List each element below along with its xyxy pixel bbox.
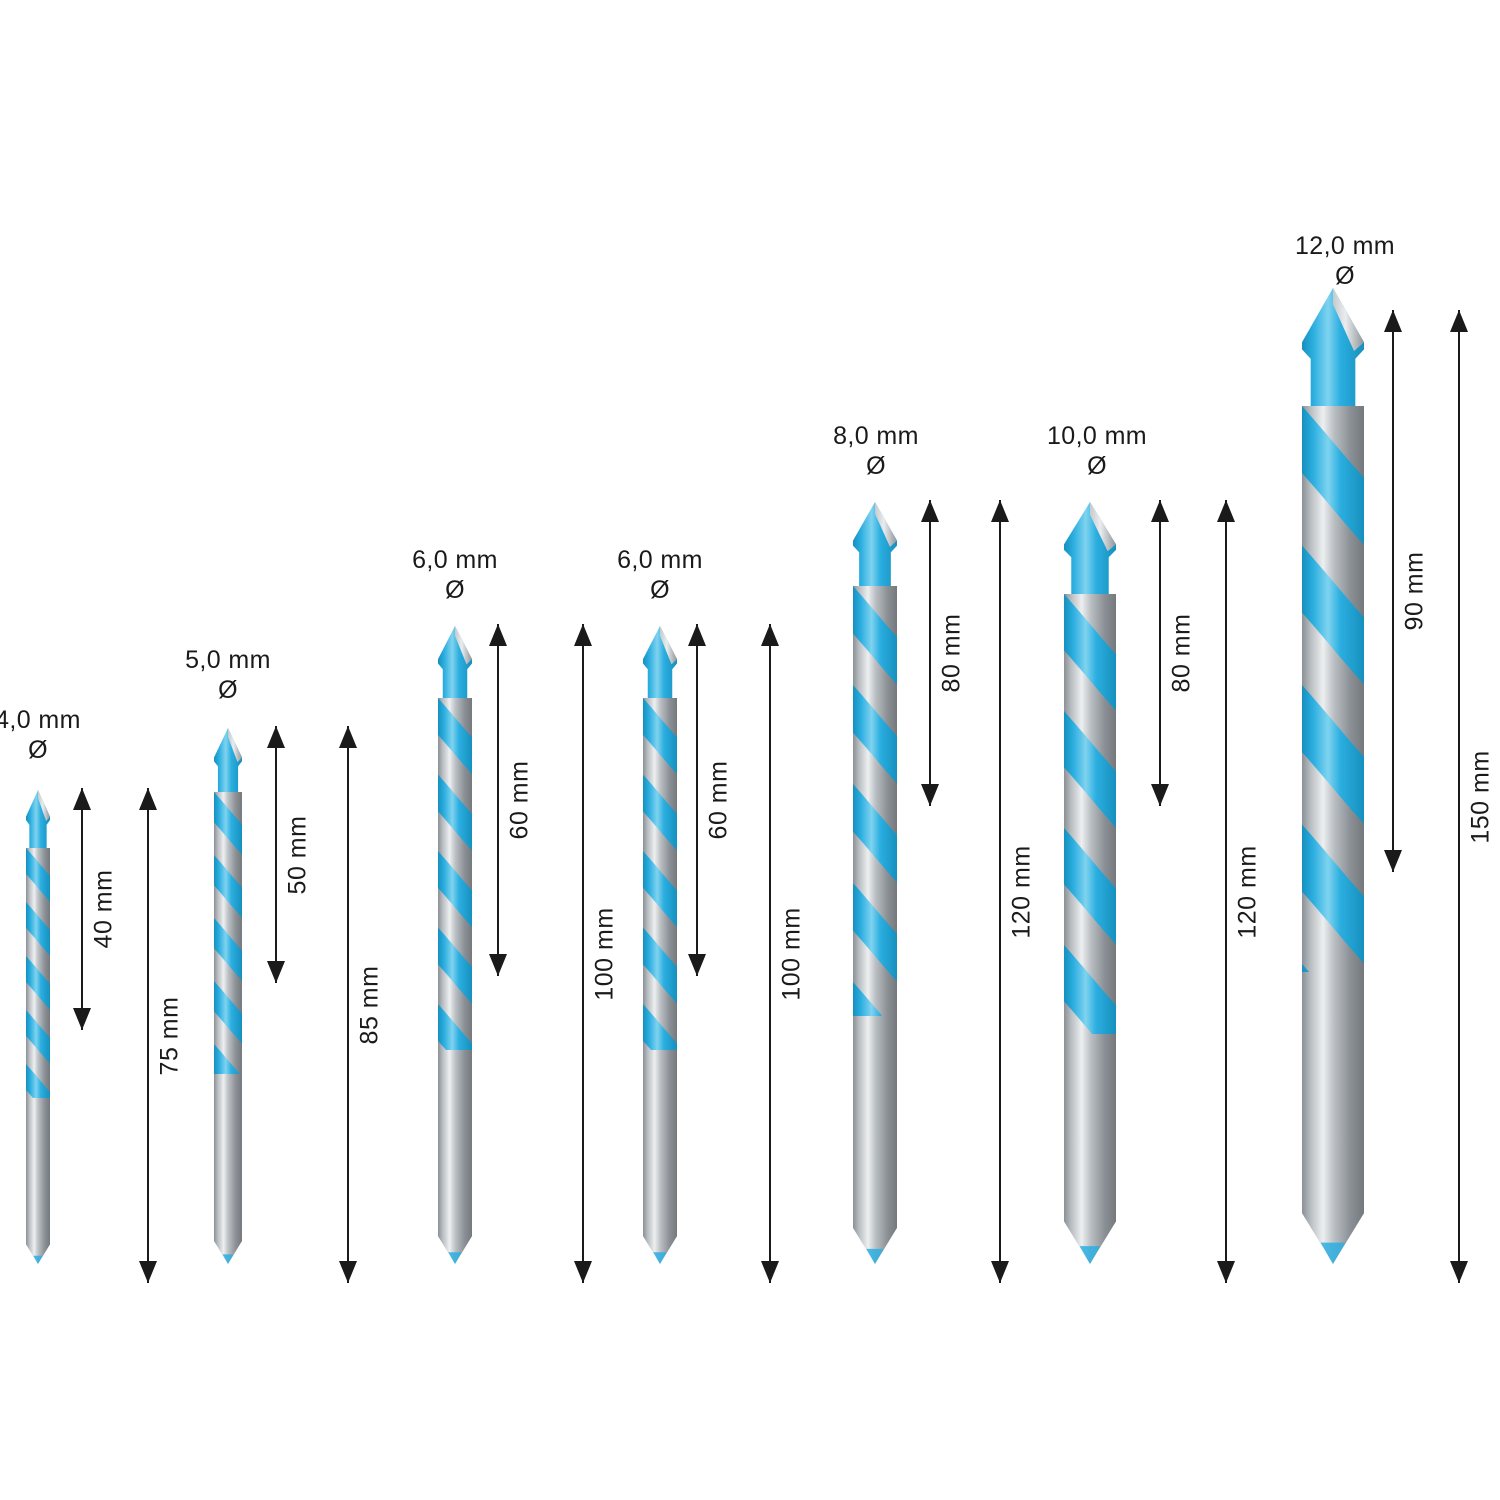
product-dimension-diagram: 40 mm75 mm4,0 mmØ50 mm85 mm5,0 mmØ60 mm1… — [0, 0, 1500, 1500]
dimension-bit-12mm-0: 90 mm — [1373, 310, 1413, 872]
arrowhead-down-icon — [921, 784, 939, 806]
dimension-value: 100 mm — [591, 907, 620, 1000]
diameter-value: 5,0 mm — [118, 646, 338, 676]
dimension-line — [347, 726, 349, 1283]
arrowhead-down-icon — [1384, 850, 1402, 872]
arrowhead-up-icon — [574, 624, 592, 646]
dimension-value: 60 mm — [506, 761, 535, 840]
diameter-value: 4,0 mm — [0, 706, 148, 736]
arrowhead-up-icon — [139, 788, 157, 810]
arrowhead-up-icon — [761, 624, 779, 646]
diameter-symbol-icon: Ø — [766, 452, 986, 482]
diameter-symbol-icon: Ø — [550, 576, 770, 606]
arrowhead-up-icon — [1151, 500, 1169, 522]
dimension-line — [497, 624, 499, 976]
arrowhead-down-icon — [73, 1008, 91, 1030]
arrowhead-up-icon — [1384, 310, 1402, 332]
dimension-line — [582, 624, 584, 1283]
arrowhead-up-icon — [688, 624, 706, 646]
dimension-value: 85 mm — [356, 965, 385, 1044]
diameter-value: 10,0 mm — [987, 422, 1207, 452]
diameter-symbol-icon: Ø — [0, 736, 148, 766]
diameter-value: 12,0 mm — [1235, 232, 1455, 262]
dimension-line — [999, 500, 1001, 1283]
arrowhead-down-icon — [1450, 1261, 1468, 1283]
dimension-bit-6mm-b-0: 60 mm — [677, 624, 717, 976]
bit-8mm — [853, 502, 897, 1264]
dimension-bit-12mm-1: 150 mm — [1439, 310, 1479, 1283]
dimension-line — [1392, 310, 1394, 872]
dimension-bit-10mm-1: 120 mm — [1206, 500, 1246, 1283]
dimension-line — [929, 500, 931, 806]
drill-bit-graphic — [1302, 288, 1364, 1264]
drill-bit-graphic — [26, 790, 50, 1264]
diameter-label-bit-6mm-b: 6,0 mmØ — [550, 546, 770, 605]
bit-point — [33, 1256, 43, 1264]
diameter-label-bit-12mm: 12,0 mmØ — [1235, 232, 1455, 291]
arrowhead-down-icon — [267, 961, 285, 983]
dimension-value: 150 mm — [1467, 750, 1496, 843]
bit-point — [1321, 1243, 1346, 1264]
diameter-symbol-icon: Ø — [1235, 262, 1455, 292]
diameter-value: 8,0 mm — [766, 422, 986, 452]
dimension-bit-4mm-0: 40 mm — [62, 788, 102, 1030]
bit-shank — [1302, 406, 1364, 1264]
dimension-line — [81, 788, 83, 1030]
dimension-value: 90 mm — [1401, 552, 1430, 631]
dimension-line — [1159, 500, 1161, 806]
dimension-line — [275, 726, 277, 983]
dimension-value: 75 mm — [156, 996, 185, 1075]
arrowhead-down-icon — [1151, 784, 1169, 806]
bit-point — [1080, 1246, 1101, 1264]
arrowhead-up-icon — [489, 624, 507, 646]
arrowhead-down-icon — [574, 1261, 592, 1283]
dimension-bit-10mm-0: 80 mm — [1140, 500, 1180, 806]
bit-point — [222, 1254, 233, 1264]
arrowhead-up-icon — [991, 500, 1009, 522]
arrowhead-down-icon — [991, 1261, 1009, 1283]
arrowhead-up-icon — [1217, 500, 1235, 522]
arrowhead-down-icon — [489, 954, 507, 976]
bit-point — [448, 1252, 462, 1264]
dimension-bit-8mm-0: 80 mm — [910, 500, 950, 806]
arrowhead-down-icon — [339, 1261, 357, 1283]
dimension-value: 120 mm — [1234, 845, 1263, 938]
dimension-bit-6mm-a-0: 60 mm — [478, 624, 518, 976]
diameter-label-bit-6mm-a: 6,0 mmØ — [345, 546, 565, 605]
dimension-bit-8mm-1: 120 mm — [980, 500, 1020, 1283]
diameter-value: 6,0 mm — [550, 546, 770, 576]
arrowhead-up-icon — [921, 500, 939, 522]
arrowhead-down-icon — [1217, 1261, 1235, 1283]
dimension-value: 60 mm — [705, 761, 734, 840]
bit-12mm — [1302, 288, 1364, 1264]
arrowhead-down-icon — [688, 954, 706, 976]
arrowhead-up-icon — [339, 726, 357, 748]
arrowhead-up-icon — [1450, 310, 1468, 332]
diameter-label-bit-5mm: 5,0 mmØ — [118, 646, 338, 705]
dimension-value: 120 mm — [1008, 845, 1037, 938]
bit-6mm-b — [643, 626, 677, 1264]
dimension-bit-6mm-b-1: 100 mm — [750, 624, 790, 1283]
diameter-symbol-icon: Ø — [345, 576, 565, 606]
dimension-line — [1225, 500, 1227, 1283]
dimension-line — [769, 624, 771, 1283]
diameter-value: 6,0 mm — [345, 546, 565, 576]
bit-4mm — [26, 790, 50, 1264]
bit-10mm — [1064, 502, 1116, 1264]
diameter-label-bit-8mm: 8,0 mmØ — [766, 422, 986, 481]
dimension-bit-5mm-0: 50 mm — [256, 726, 296, 983]
dimension-value: 50 mm — [284, 815, 313, 894]
arrowhead-down-icon — [139, 1261, 157, 1283]
dimension-bit-6mm-a-1: 100 mm — [563, 624, 603, 1283]
dimension-bit-5mm-1: 85 mm — [328, 726, 368, 1283]
diameter-label-bit-10mm: 10,0 mmØ — [987, 422, 1207, 481]
drill-bit-graphic — [853, 502, 897, 1264]
dimension-value: 40 mm — [90, 870, 119, 949]
drill-bit-graphic — [643, 626, 677, 1264]
diameter-symbol-icon: Ø — [118, 676, 338, 706]
bit-point — [866, 1249, 884, 1264]
dimension-line — [696, 624, 698, 976]
dimension-bit-4mm-1: 75 mm — [128, 788, 168, 1283]
drill-bit-graphic — [1064, 502, 1116, 1264]
dimension-line — [1458, 310, 1460, 1283]
drill-bit-graphic — [438, 626, 472, 1264]
arrowhead-up-icon — [73, 788, 91, 810]
dimension-value: 100 mm — [778, 907, 807, 1000]
diameter-symbol-icon: Ø — [987, 452, 1207, 482]
bit-6mm-a — [438, 626, 472, 1264]
drill-bit-graphic — [214, 728, 242, 1264]
dimension-line — [147, 788, 149, 1283]
bit-5mm — [214, 728, 242, 1264]
arrowhead-up-icon — [267, 726, 285, 748]
diameter-label-bit-4mm: 4,0 mmØ — [0, 706, 148, 765]
bit-point — [653, 1252, 667, 1264]
dimension-value: 80 mm — [938, 614, 967, 693]
dimension-value: 80 mm — [1168, 614, 1197, 693]
arrowhead-down-icon — [761, 1261, 779, 1283]
